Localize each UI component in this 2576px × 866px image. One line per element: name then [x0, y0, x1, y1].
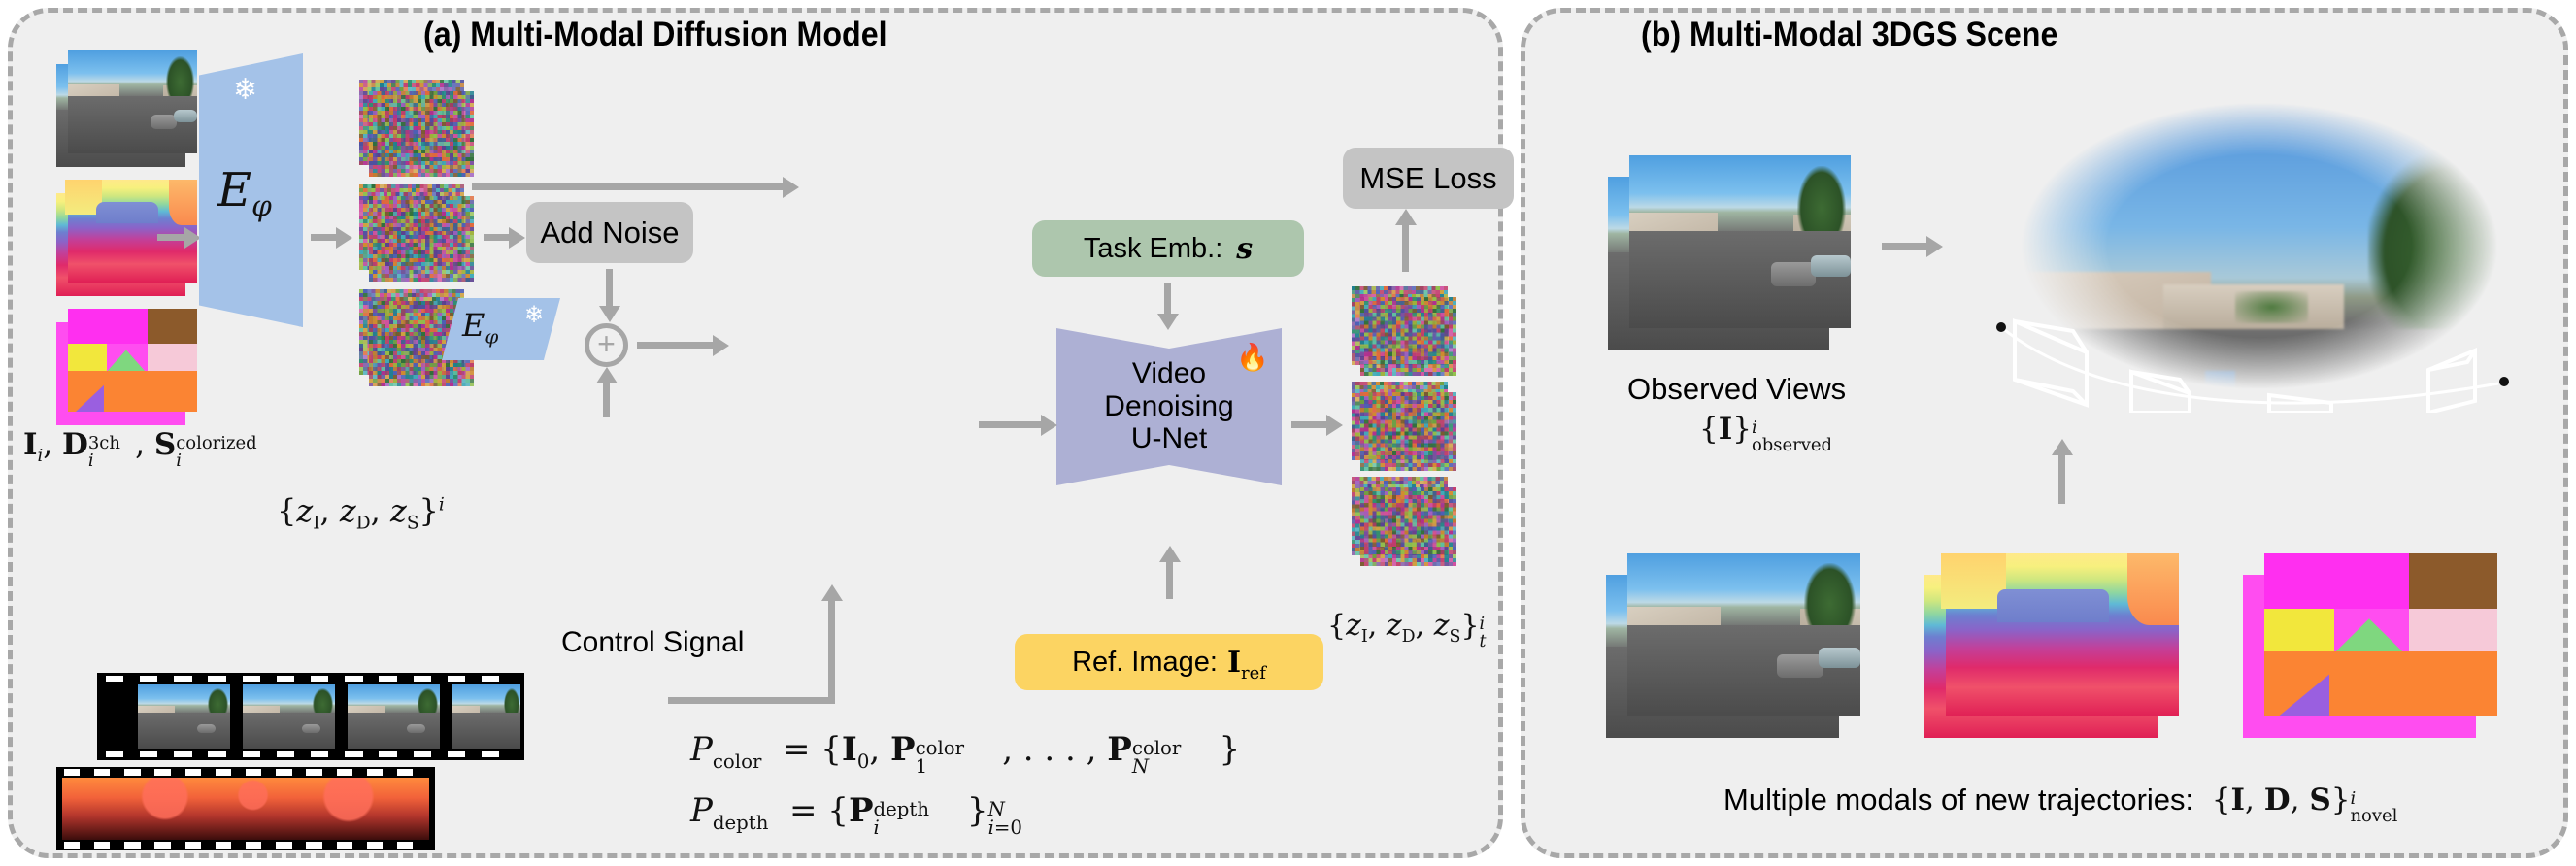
- arrow-modalities-to-scene: [2058, 451, 2065, 504]
- arrow-latents-to-addnoise: [484, 234, 511, 241]
- arrowhead-latents-to-addnoise: [509, 227, 525, 249]
- arrowhead-addnoise-to-plus: [599, 306, 620, 322]
- arrow-unet-to-output: [1291, 421, 1328, 428]
- arrowhead-output-to-mse: [1395, 209, 1417, 225]
- arrowhead-taskemb-to-unet: [1157, 314, 1179, 330]
- encoder-symbol-small: Eφ: [462, 307, 498, 344]
- novel-trajectories-math: {I, D, S}inovel: [2212, 783, 2423, 817]
- arrow-sum-to-unet: [979, 421, 1043, 428]
- latent-tile-depth: [359, 184, 474, 282]
- input-rgb-tile: [56, 50, 197, 167]
- control-signal-color-filmstrip: [97, 673, 524, 760]
- reference-image-label: Ref. Image:: [1072, 647, 1218, 679]
- arrow-encoder-to-latents: [311, 234, 338, 241]
- arrow-refimage-to-unet: [1166, 558, 1173, 599]
- arrow-plus-to-unet: [637, 342, 715, 349]
- sum-node: +: [585, 323, 628, 367]
- novel-rgb-tile: [1606, 553, 1860, 738]
- inputs-math-label: Ii, D3chi , Scolorizedi: [23, 427, 266, 462]
- camera-frustum-icons: [1958, 92, 2560, 413]
- mse-loss-label: MSE Loss: [1359, 161, 1496, 196]
- unet-label-line-2: Denoising: [1056, 390, 1282, 423]
- arrow-controlsignal-h: [668, 697, 835, 704]
- task-embedding-box[interactable]: Task Emb.: s: [1032, 220, 1304, 277]
- observed-views-tile: [1608, 155, 1851, 350]
- gaussian-splat-scene: [1958, 92, 2560, 413]
- reference-image-symbol: Iref: [1227, 646, 1266, 680]
- novel-segmentation-tile: [2243, 553, 2497, 738]
- add-noise-label: Add Noise: [540, 216, 679, 250]
- arrowhead-latents-to-mse: [783, 177, 799, 198]
- arrowhead-sum-to-unet: [1041, 415, 1057, 436]
- latent-noise-canvas: [369, 91, 474, 177]
- control-signal-depth-filmstrip: [56, 767, 435, 850]
- snowflake-icon: ❄: [233, 76, 257, 105]
- observed-views-label: Observed Views: [1627, 372, 1846, 407]
- output-latent-tile-depth: [1352, 382, 1456, 471]
- arrowhead-modalities-to-scene: [2052, 439, 2073, 455]
- novel-trajectories-text: Multiple modals of new trajectories:: [1723, 783, 2193, 816]
- latent-noise-canvas: [1360, 392, 1456, 471]
- mse-loss-box[interactable]: MSE Loss: [1343, 148, 1514, 209]
- arrowhead-encoder-to-latents: [336, 227, 352, 249]
- input-segmentation-tile: [56, 309, 197, 425]
- latent-noise-canvas: [1360, 297, 1456, 376]
- observed-views-math: {I}iobserved: [1699, 412, 1875, 447]
- noisy-latents-math-label: {zI, zD, zS}it: [1327, 609, 1495, 643]
- unet-label-line-1: Video: [1056, 357, 1282, 390]
- arrowhead-unet-to-output: [1326, 415, 1343, 436]
- figure-canvas: (a) Multi-Modal Diffusion Model Ii, D3ch…: [0, 0, 2576, 866]
- formula-color: Pcolor = {I0, Pcolor1 , . . . , PcolorN …: [690, 730, 1240, 769]
- output-latent-tile-image: [1352, 286, 1456, 376]
- arrow-output-to-mse: [1402, 221, 1409, 272]
- formula-depth: Pdepth = {Pdepthi }Ni=0: [690, 791, 1038, 830]
- unet-label: Video Denoising U-Net: [1056, 357, 1282, 455]
- arrow-control-into-sum: [603, 381, 610, 417]
- arrow-observed-to-scene: [1882, 243, 1928, 250]
- output-latent-tile-seg: [1352, 477, 1456, 566]
- arrowhead-inputs-to-encoder: [184, 227, 201, 249]
- novel-trajectories-caption: Multiple modals of new trajectories: {I,…: [1723, 783, 2423, 817]
- arrow-taskemb-to-unet: [1164, 283, 1171, 317]
- arrowhead-control-into-sum: [596, 367, 618, 383]
- arrowhead-controlsignal: [821, 584, 843, 601]
- panel-b-title: (b) Multi-Modal 3DGS Scene: [1641, 16, 2057, 54]
- arrowhead-plus-to-unet: [713, 335, 729, 356]
- novel-depth-tile: [1924, 553, 2179, 738]
- latent-noise-canvas: [369, 196, 474, 282]
- latent-noise-canvas: [1360, 487, 1456, 566]
- arrow-latents-to-mse: [472, 183, 785, 190]
- task-embedding-label: Task Emb.:: [1084, 233, 1222, 265]
- panel-a-title: (a) Multi-Modal Diffusion Model: [423, 16, 887, 54]
- plus-symbol: +: [597, 328, 616, 359]
- latents-math-label: {zI, zD, zS}i: [277, 492, 445, 529]
- arrow-addnoise-to-plus: [606, 269, 613, 310]
- snowflake-icon: ❄: [524, 304, 544, 327]
- reference-image-box[interactable]: Ref. Image: Iref: [1015, 634, 1323, 690]
- control-signal-label: Control Signal: [561, 626, 744, 659]
- arrow-inputs-to-encoder: [157, 234, 186, 241]
- task-embedding-symbol: s: [1236, 232, 1253, 266]
- arrow-controlsignal-v: [828, 598, 835, 701]
- encoder-symbol-main: Eφ: [217, 163, 272, 217]
- unet-label-line-3: U-Net: [1056, 422, 1282, 455]
- arrowhead-refimage-to-unet: [1159, 546, 1181, 562]
- add-noise-box[interactable]: Add Noise: [526, 202, 693, 263]
- arrowhead-observed-to-scene: [1926, 236, 1943, 257]
- latent-tile-image: [359, 80, 474, 177]
